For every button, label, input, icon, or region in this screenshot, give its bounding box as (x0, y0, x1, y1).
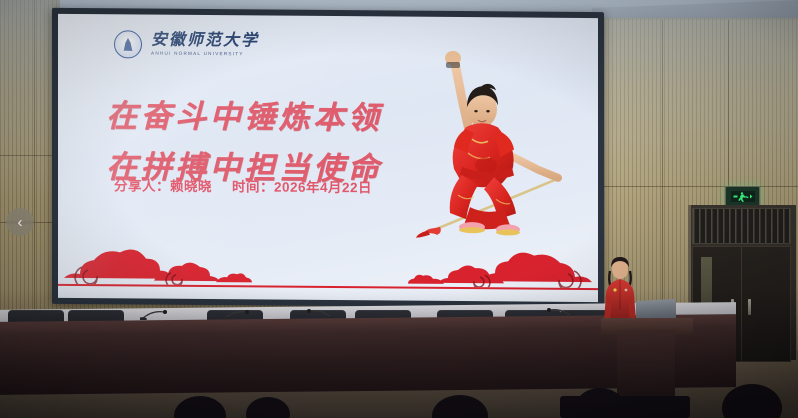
university-name-cn: 安徽师范大学 (151, 33, 259, 50)
university-crest-icon (114, 30, 142, 58)
left-wall-panelling (0, 0, 60, 348)
door-transom (692, 208, 791, 244)
door-handle-right[interactable] (748, 299, 751, 315)
podium-laptop (636, 299, 676, 320)
previous-image-button[interactable]: ‹ (6, 208, 34, 236)
headline-line-1: 在奋斗中锤炼本领 (106, 90, 382, 137)
university-logo-lockup: 安徽师范大学 ANHUI NORMAL UNIVERSITY (114, 30, 259, 59)
date-label: 时间： (232, 175, 274, 195)
emergency-exit-sign (725, 186, 760, 207)
chevron-left-icon: ‹ (18, 215, 23, 230)
presenter-label: 分享人： (114, 174, 170, 194)
audience-silhouettes (0, 370, 798, 418)
university-name-en: ANHUI NORMAL UNIVERSITY (151, 52, 259, 57)
led-screen: 安徽师范大学 ANHUI NORMAL UNIVERSITY 在奋斗中锤炼本领 … (52, 8, 604, 308)
slide-surface: 安徽师范大学 ANHUI NORMAL UNIVERSITY 在奋斗中锤炼本领 … (58, 14, 598, 302)
running-man-icon (731, 191, 755, 202)
presenter-name: 赖晓晓 (170, 175, 212, 195)
table-microphone (140, 310, 174, 320)
wushu-performer-photo (410, 35, 590, 266)
date-value: 2026年4月22日 (274, 176, 372, 197)
auspicious-cloud-ornament (58, 248, 598, 288)
photo-viewer: 安徽师范大学 ANHUI NORMAL UNIVERSITY 在奋斗中锤炼本领 … (0, 0, 798, 418)
slide-byline: 分享人： 赖晓晓 时间： 2026年4月22日 (114, 174, 372, 196)
door-leaf-right[interactable] (741, 246, 791, 362)
